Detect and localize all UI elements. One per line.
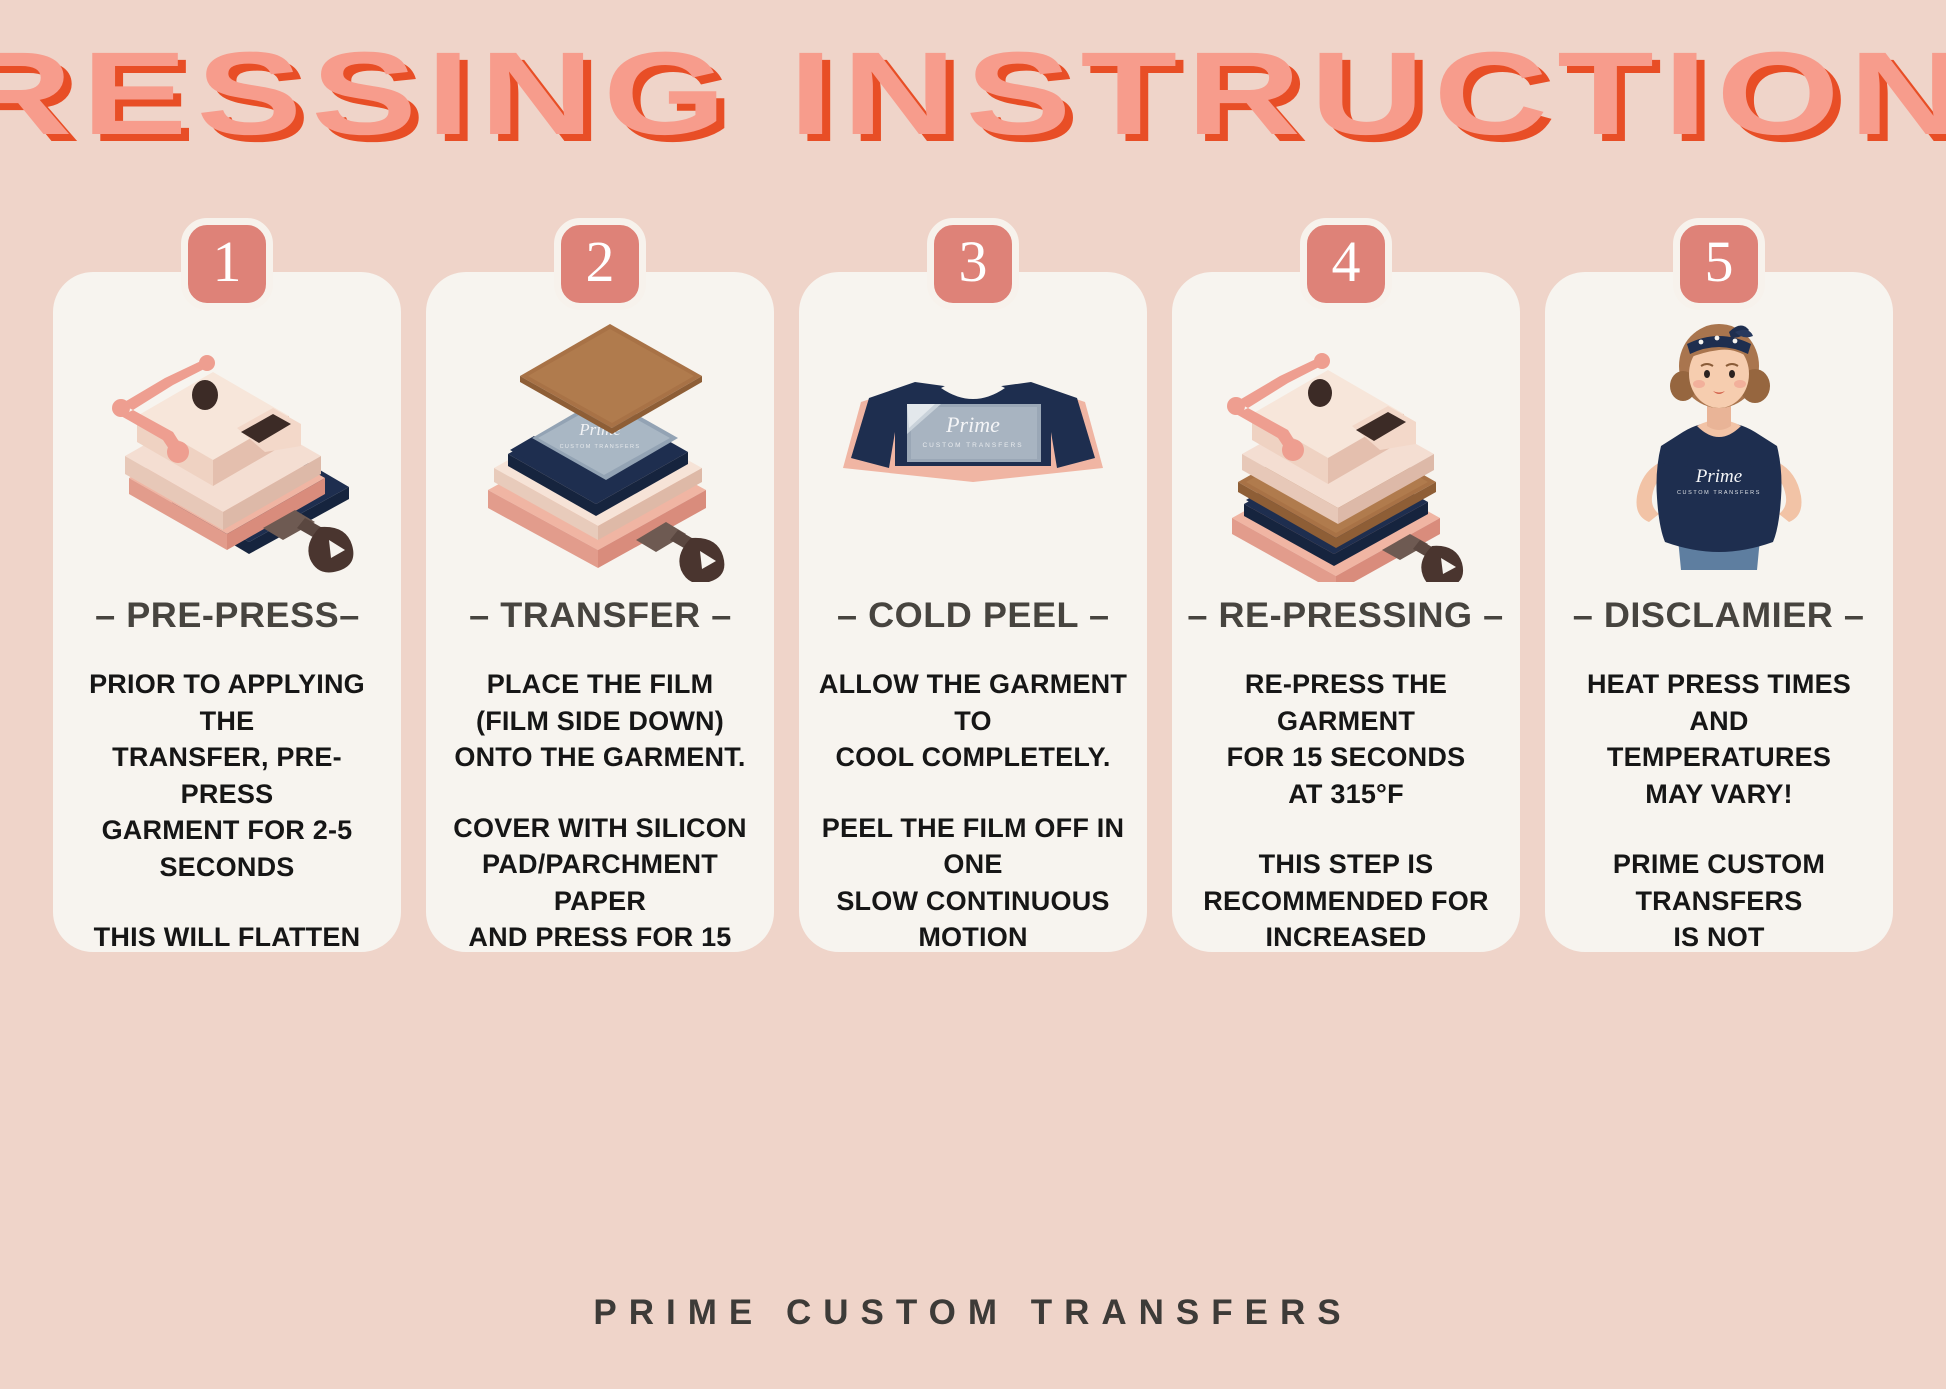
step-paragraph: PRIME CUSTOM TRANSFERSIS NOT RESPONDSIBI…	[1560, 846, 1878, 952]
step-card-body-2: Prime CUSTOM TRANSFERS – TRANSFER – PLAC…	[426, 272, 774, 952]
brand-footer: PRIME CUSTOM TRANSFERS	[0, 1293, 1946, 1333]
page-title-front-layer: PRESSING INSTRUCTIONS	[0, 35, 1946, 153]
step-badge-2: 2	[554, 218, 646, 310]
svg-text:Prime: Prime	[1695, 466, 1742, 487]
svg-text:Prime: Prime	[945, 412, 1000, 437]
step-heading-1: – PRE-PRESS–	[95, 596, 360, 636]
step-body-3: ALLOW THE GARMENT TOCOOL COMPLETELY. PEE…	[817, 666, 1129, 952]
step-heading-4: – RE-PRESSING –	[1188, 596, 1504, 636]
step-card-4: 4	[1172, 272, 1520, 952]
page-header: PRESSING INSTRUCTIONS PRESSING INSTRUCTI…	[0, 0, 1946, 186]
step-paragraph: THIS STEP ISRECOMMENDED FORINCREASED DUR…	[1187, 846, 1505, 952]
step-body-1: PRIOR TO APPLYING THETRANSFER, PRE-PRESS…	[71, 666, 383, 952]
step-paragraph: PEEL THE FILM OFF IN ONESLOW CONTINUOUSM…	[814, 810, 1132, 952]
transfer-film-icon: Prime CUSTOM TRANSFERS	[444, 272, 756, 592]
step-card-body-3: Prime CUSTOM TRANSFERS – COLD PEEL – ALL…	[799, 272, 1147, 952]
step-card-2: 2	[426, 272, 774, 952]
step-card-3: 3 Pr	[799, 272, 1147, 952]
step-body-5: HEAT PRESS TIMES ANDTEMPERATURESMAY VARY…	[1563, 666, 1875, 952]
step-paragraph: RE-PRESS THE GARMENTFOR 15 SECONDSAT 315…	[1187, 666, 1505, 812]
step-badge-3: 3	[927, 218, 1019, 310]
step-paragraph: COVER WITH SILICONPAD/PARCHMENT PAPERAND…	[441, 810, 759, 952]
page-title: PRESSING INSTRUCTIONS PRESSING INSTRUCTI…	[0, 42, 1946, 160]
step-paragraph: ALLOW THE GARMENT TOCOOL COMPLETELY.	[814, 666, 1132, 776]
step-paragraph: PRIOR TO APPLYING THETRANSFER, PRE-PRESS…	[68, 666, 386, 885]
step-badge-1: 1	[181, 218, 273, 310]
cold-peel-shirt-icon: Prime CUSTOM TRANSFERS	[817, 272, 1129, 592]
step-body-4: RE-PRESS THE GARMENTFOR 15 SECONDSAT 315…	[1190, 666, 1502, 952]
step-paragraph: PLACE THE FILM(FILM SIDE DOWN)ONTO THE G…	[441, 666, 759, 776]
step-badge-5: 5	[1673, 218, 1765, 310]
re-press-icon	[1190, 272, 1502, 592]
person-wearing-shirt-icon: Prime CUSTOM TRANSFERS	[1563, 272, 1875, 592]
step-card-body-1: – PRE-PRESS– PRIOR TO APPLYING THETRANSF…	[53, 272, 401, 952]
step-paragraph: HEAT PRESS TIMES ANDTEMPERATURESMAY VARY…	[1560, 666, 1878, 812]
step-heading-3: – COLD PEEL –	[837, 596, 1109, 636]
step-card-body-4: – RE-PRESSING – RE-PRESS THE GARMENTFOR …	[1172, 272, 1520, 952]
svg-text:CUSTOM TRANSFERS: CUSTOM TRANSFERS	[560, 444, 641, 450]
step-card-body-5: Prime CUSTOM TRANSFERS	[1545, 272, 1893, 952]
step-paragraph: THIS WILL FLATTEN THEFABRIC & REMOVE EXC…	[68, 919, 386, 952]
step-body-2: PLACE THE FILM(FILM SIDE DOWN)ONTO THE G…	[444, 666, 756, 952]
step-heading-2: – TRANSFER –	[469, 596, 732, 636]
step-badge-4: 4	[1300, 218, 1392, 310]
step-heading-5: – DISCLAMIER –	[1573, 596, 1865, 636]
step-card-5: 5 Prime CUSTOM T	[1545, 272, 1893, 952]
step-card-1: 1	[53, 272, 401, 952]
svg-text:CUSTOM TRANSFERS: CUSTOM TRANSFERS	[922, 442, 1023, 449]
steps-row: 1	[0, 272, 1946, 952]
heat-press-icon	[71, 272, 383, 592]
svg-text:CUSTOM TRANSFERS: CUSTOM TRANSFERS	[1677, 490, 1761, 496]
